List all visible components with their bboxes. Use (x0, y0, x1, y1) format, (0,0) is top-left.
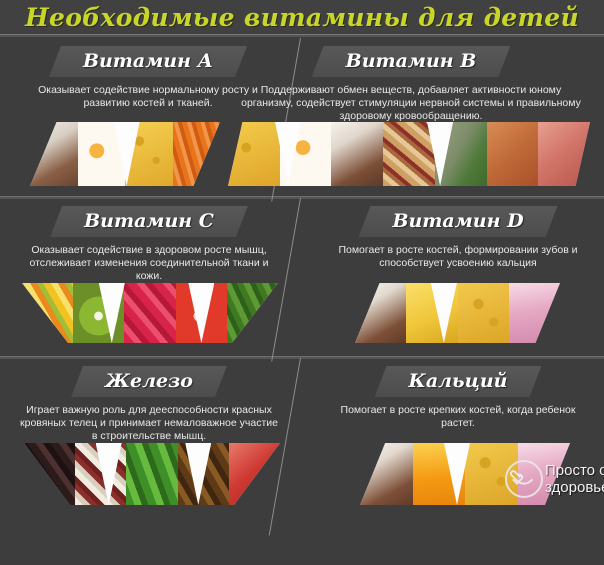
food-photo-broccoli (227, 283, 278, 343)
food-photo-nuts-beans (383, 122, 435, 186)
section-heading-text: Кальций (409, 370, 508, 392)
food-photo-poultry (487, 122, 539, 186)
food-photo-meat (538, 122, 590, 186)
food-photo-cheese (228, 122, 280, 186)
page-title: Необходимые витамины для детей (25, 3, 579, 32)
food-photo-cheese (125, 122, 173, 186)
food-photo-beans (75, 443, 126, 505)
food-strip-iron (24, 443, 280, 505)
heart-in-circle-icon (505, 460, 543, 498)
title-bar: Необходимые витамины для детей (0, 0, 604, 34)
row-divider-1 (0, 196, 604, 199)
food-photo-butter (406, 283, 457, 343)
food-photo-eggs (78, 122, 126, 186)
food-photo-prunes (24, 443, 75, 505)
section-heading-banner: Витамин D (358, 206, 557, 237)
section-heading-banner: Витамин А (49, 46, 247, 77)
food-photo-fish (435, 122, 487, 186)
section-heading-banner: Железо (71, 366, 227, 397)
watermark-line-2: здоровье (545, 479, 604, 496)
section-description: Помогает в росте костей, формировании зу… (318, 244, 598, 270)
section-description: Играет важную роль для дееспособности кр… (6, 404, 292, 443)
watermark-line-1: Просто о (545, 462, 604, 479)
food-photo-carrots (173, 122, 221, 186)
section-heading-text: Железо (105, 370, 193, 392)
section-heading-text: Витамин С (84, 210, 214, 232)
food-photo-milk (30, 122, 78, 186)
food-strip-vitamin-a (30, 122, 220, 186)
food-strip-vitamin-d (355, 283, 560, 343)
section-heading-text: Витамин А (83, 50, 213, 72)
section-heading-banner: Кальций (375, 366, 542, 397)
food-photo-cheese (458, 283, 509, 343)
food-photo-milk (360, 443, 413, 505)
food-photo-citrus (22, 283, 73, 343)
section-heading-text: Витамин В (346, 50, 477, 72)
food-photo-orange-juice (413, 443, 466, 505)
food-strip-vitamin-c (22, 283, 278, 343)
food-strip-vitamin-b (228, 122, 590, 186)
section-vitamin-b: Витамин В Поддерживают обмен веществ, до… (222, 46, 600, 123)
section-description: Помогает в росте крепких костей, когда р… (318, 404, 598, 430)
section-vitamin-c: Витамин С Оказывает содействие в здорово… (6, 206, 292, 283)
section-heading-banner: Витамин В (312, 46, 511, 77)
food-photo-yogurt (509, 283, 560, 343)
food-photo-milk (331, 122, 383, 186)
watermark: Просто о здоровье (505, 460, 604, 498)
food-photo-tomato (176, 283, 227, 343)
section-vitamin-d: Витамин D Помогает в росте костей, форми… (318, 206, 598, 270)
food-photo-eggs (280, 122, 332, 186)
section-heading-banner: Витамин С (50, 206, 248, 237)
section-iron: Железо Играет важную роль для дееспособн… (6, 366, 292, 443)
title-divider (0, 34, 604, 37)
section-calcium: Кальций Помогает в росте крепких костей,… (318, 366, 598, 430)
section-heading-text: Витамин D (392, 210, 523, 232)
food-photo-strawberry (124, 283, 175, 343)
food-photo-dried-meat (178, 443, 229, 505)
heart-shape (515, 471, 533, 489)
food-photo-milk (355, 283, 406, 343)
infographic-page: Необходимые витамины для детей Витамин А… (0, 0, 604, 565)
food-photo-kiwi (73, 283, 124, 343)
food-photo-red-meat (229, 443, 280, 505)
watermark-text: Просто о здоровье (545, 462, 604, 496)
section-description: Оказывает содействие в здоровом росте мы… (6, 244, 292, 283)
row-divider-2 (0, 356, 604, 359)
section-description: Поддерживают обмен веществ, добавляет ак… (222, 84, 600, 123)
food-photo-spinach (126, 443, 177, 505)
